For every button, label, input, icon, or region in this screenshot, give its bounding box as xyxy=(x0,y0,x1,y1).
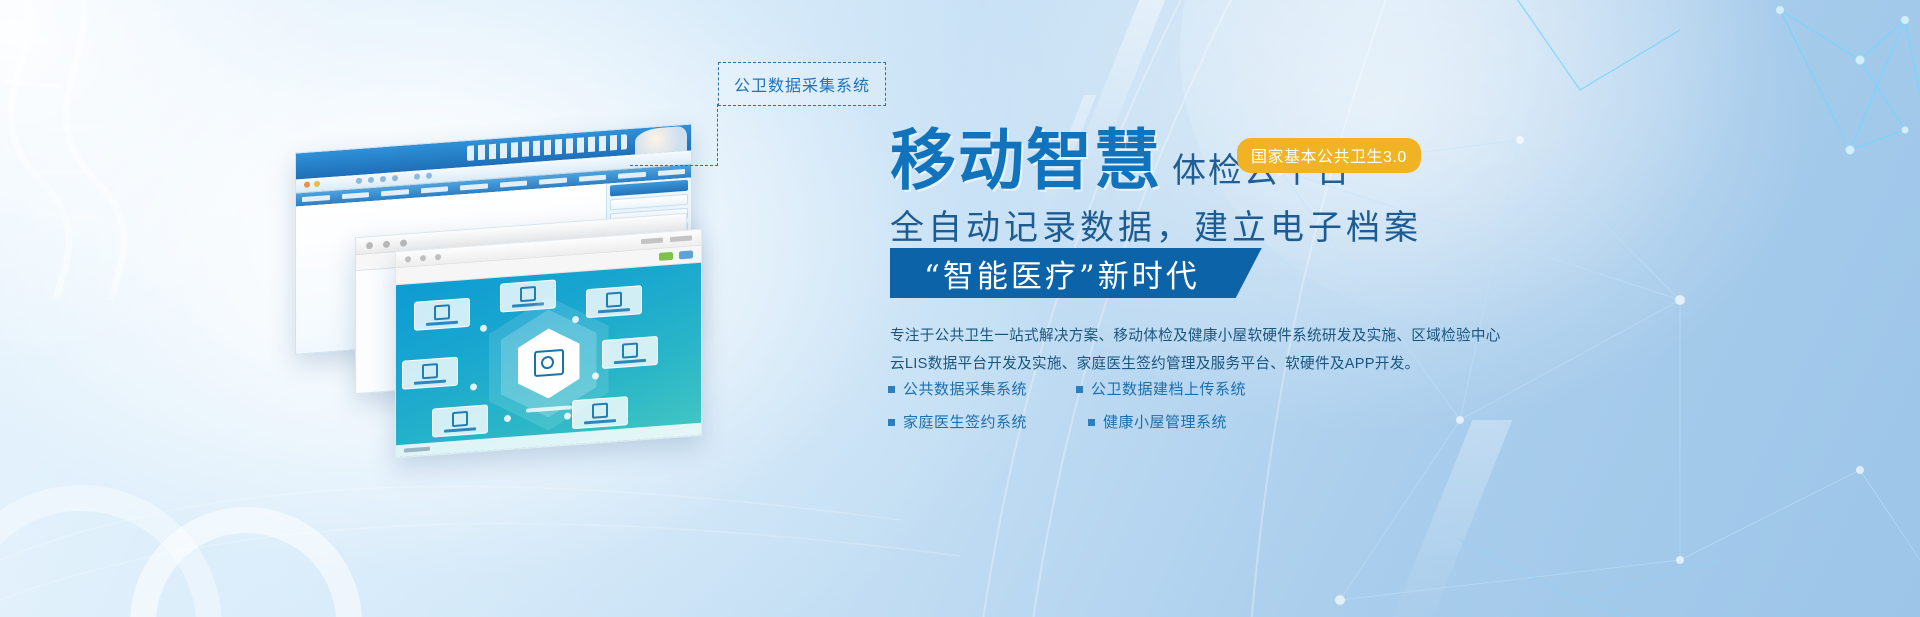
list-item-label: 家庭医生签约系统 xyxy=(903,411,1027,432)
list-item[interactable]: 家庭医生签约系统 xyxy=(888,411,1056,432)
promo-banner: 公卫数据采集系统 移动智慧 体检云平台 国家基本公共卫生3.0 全自动记录数据，… xyxy=(0,0,1920,617)
callout-box: 公卫数据采集系统 xyxy=(718,62,886,106)
dashboard-chip xyxy=(432,404,488,437)
hex-center xyxy=(518,326,580,401)
list-item[interactable]: 公卫数据建档上传系统 xyxy=(1076,378,1318,399)
dashboard-chip xyxy=(414,298,470,331)
list-item-label: 健康小屋管理系统 xyxy=(1103,411,1227,432)
list-item[interactable]: 健康小屋管理系统 xyxy=(1076,411,1318,432)
callout-leader-vertical xyxy=(717,104,719,166)
headline-line2: 全自动记录数据，建立电子档案 xyxy=(890,200,1422,249)
bullet-square-icon xyxy=(888,419,895,426)
callout-leader-horizontal xyxy=(630,165,718,167)
bullet-square-icon xyxy=(888,386,895,393)
headline-row: 移动智慧 体检云平台 国家基本公共卫生3.0 xyxy=(890,128,1352,194)
list-item-label: 公卫数据建档上传系统 xyxy=(1091,378,1246,399)
headline-main: 移动智慧 xyxy=(890,128,1162,194)
dashboard-chip xyxy=(586,285,642,318)
list-item[interactable]: 公共数据采集系统 xyxy=(888,378,1056,399)
badge-public-health-3: 国家基本公共卫生3.0 xyxy=(1237,138,1421,173)
callout-label: 公卫数据采集系统 xyxy=(734,72,870,96)
feature-list: 公共数据采集系统 公卫数据建档上传系统 家庭医生签约系统 健康小屋管理系统 xyxy=(888,378,1318,432)
bullet-square-icon xyxy=(1088,419,1095,426)
screenshot-dashboard xyxy=(395,229,702,459)
web-app-banner-photo xyxy=(635,126,687,155)
dashboard-chip xyxy=(402,357,458,390)
description-line-2: 云LIS数据平台开发及实施、家庭医生签约管理及服务平台、软硬件及APP开发。 xyxy=(890,350,1465,378)
banner-content: 移动智慧 体检云平台 国家基本公共卫生3.0 全自动记录数据，建立电子档案 “智… xyxy=(900,0,1920,617)
description-paragraph: 专注于公共卫生一站式解决方案、移动体检及健康小屋软硬件系统研发及实施、区域检验中… xyxy=(890,322,1465,378)
document-search-icon xyxy=(534,349,564,377)
description-line-1: 专注于公共卫生一站式解决方案、移动体检及健康小屋软硬件系统研发及实施、区域检验中… xyxy=(890,322,1465,350)
ribbon-slogan: “智能医疗”新时代 xyxy=(890,248,1262,298)
dashboard-hex-diagram xyxy=(396,263,701,457)
dashboard-chip xyxy=(602,336,658,369)
bullet-square-icon xyxy=(1076,386,1083,393)
list-item-label: 公共数据采集系统 xyxy=(903,378,1027,399)
